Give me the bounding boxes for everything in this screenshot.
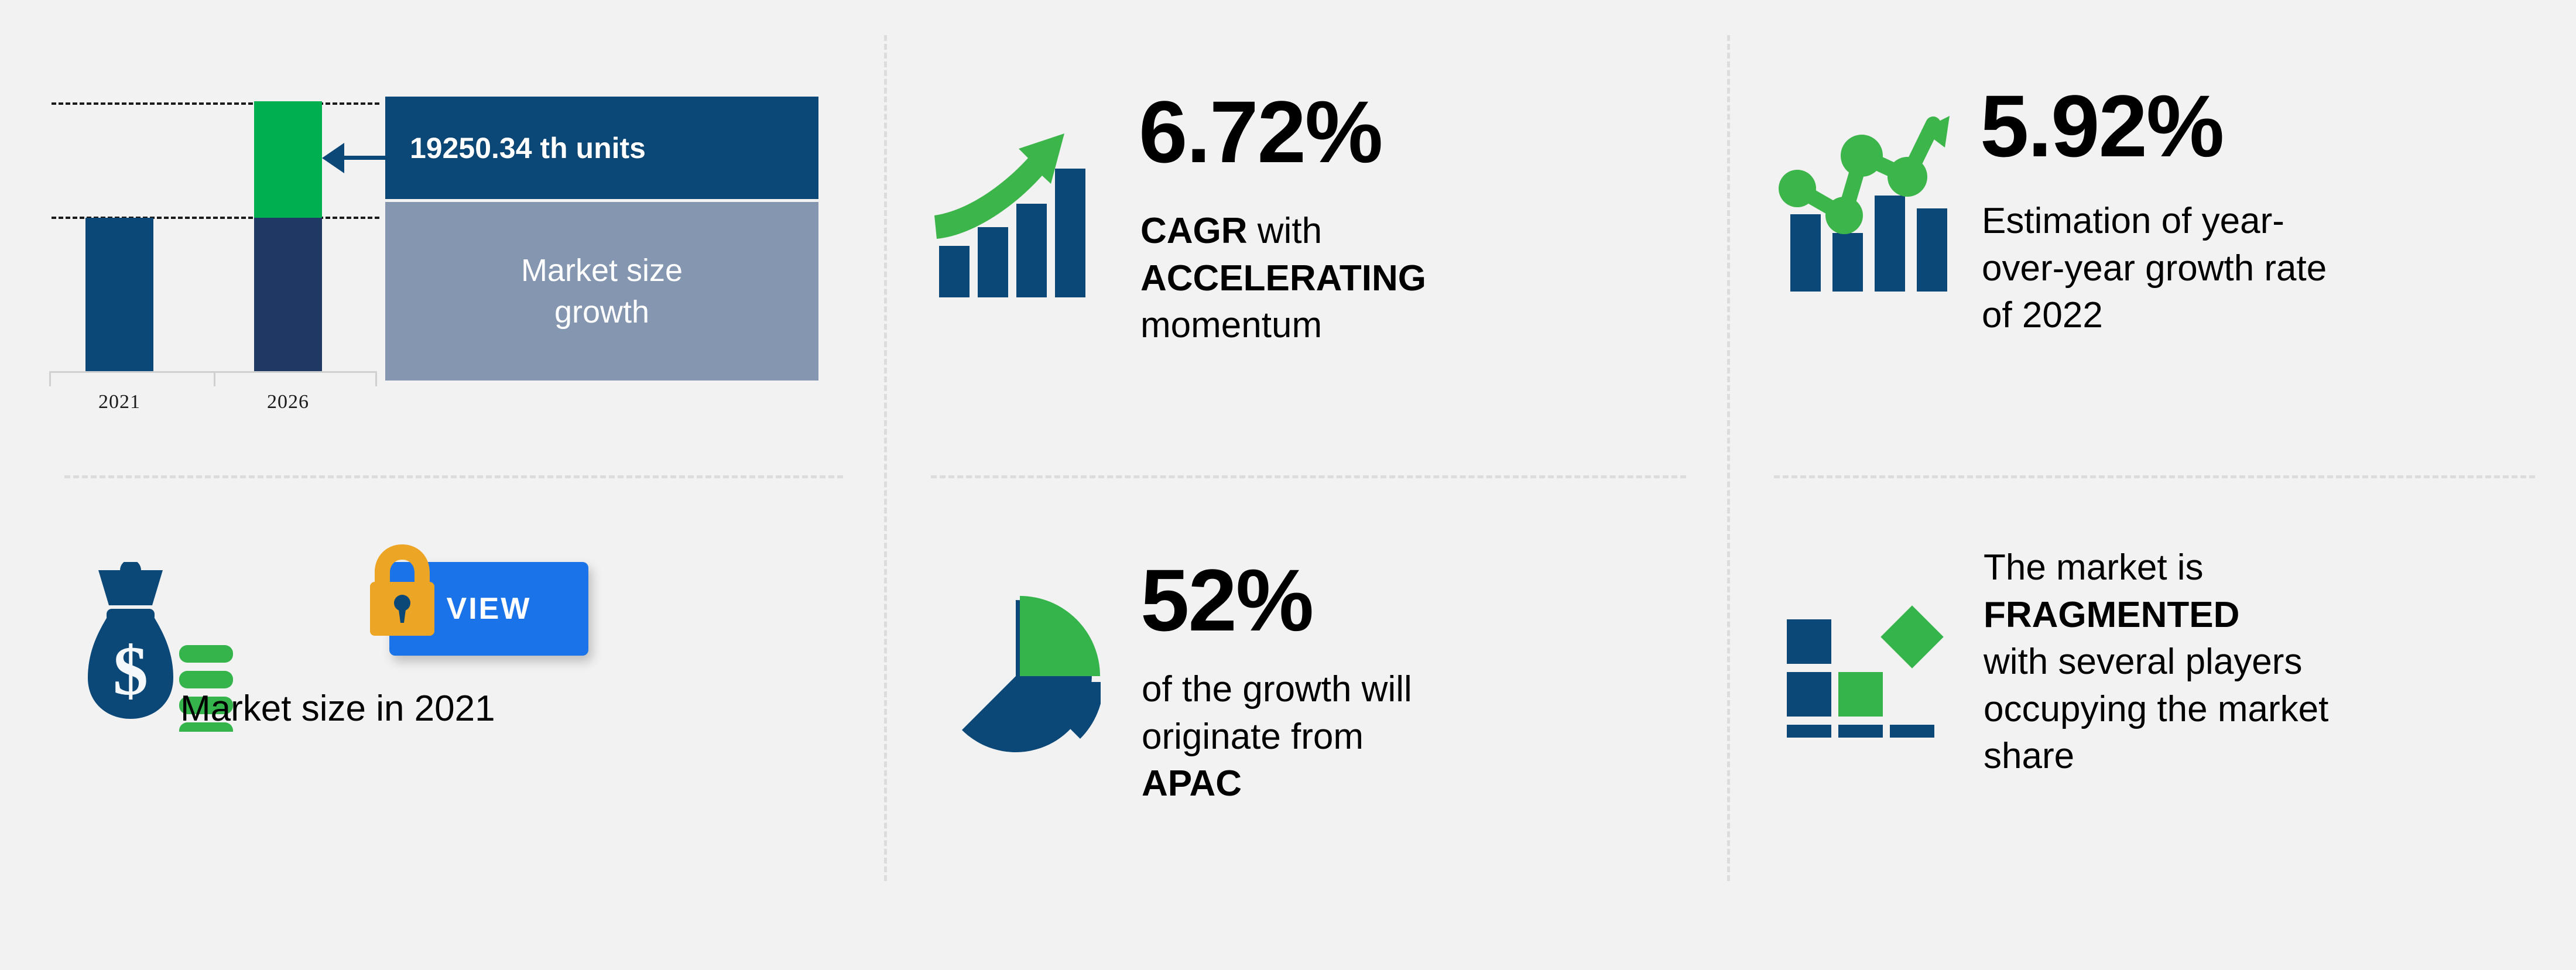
- axis-tick-mid: [214, 371, 215, 386]
- gridline-top: [52, 102, 379, 105]
- yoy-value: 5.92%: [1980, 82, 2223, 170]
- line-chart-arrow-icon: [1774, 100, 1961, 293]
- apac-value: 52%: [1140, 556, 1313, 644]
- svg-text:$: $: [113, 632, 148, 709]
- market-size-2021-cell: $ VIEW Market size in 2021: [64, 544, 843, 896]
- fragmentation-description: The market is FRAGMENTED with several pl…: [1984, 544, 2557, 780]
- cagr-strong-label: CAGR: [1140, 211, 1248, 251]
- fragmented-squares-icon: [1787, 591, 1962, 738]
- fragmentation-cell: The market is FRAGMENTED with several pl…: [1774, 527, 2553, 890]
- view-button-label: VIEW: [447, 591, 532, 626]
- horizontal-divider-col1: [64, 475, 843, 478]
- vertical-divider-right: [1727, 35, 1730, 881]
- lock-icon: [364, 537, 440, 637]
- fragmentation-line4: occupying the market: [1984, 686, 2557, 734]
- pie-chart-icon: [931, 591, 1101, 761]
- axis-label-2026: 2026: [253, 391, 323, 413]
- fragmentation-line3: with several players: [1984, 639, 2557, 686]
- fragmentation-strong-label: FRAGMENTED: [1984, 595, 2239, 635]
- apac-line1: of the growth will: [1142, 666, 1680, 714]
- cagr-value: 6.72%: [1139, 88, 1382, 176]
- yoy-line3: of 2022: [1982, 292, 2538, 340]
- apac-description: of the growth will originate from APAC: [1142, 666, 1680, 808]
- cagr-accelerating-label: ACCELERATING: [1140, 258, 1426, 299]
- apac-region-label: APAC: [1142, 763, 1242, 804]
- infographic-canvas: 2021 2026 19250.34 th units Market size …: [0, 0, 2576, 970]
- fragmentation-line5: share: [1984, 733, 2557, 780]
- market-size-2021-caption: Market size in 2021: [180, 688, 495, 729]
- bar-2021: [85, 218, 153, 371]
- apac-line2: originate from: [1142, 714, 1680, 761]
- callout-arrow-head: [322, 143, 344, 173]
- apac-cell: 52% of the growth will originate from AP…: [931, 550, 1692, 902]
- fragmentation-line1: The market is: [1984, 544, 2557, 592]
- callout-label-box: Market size growth: [385, 202, 818, 381]
- yoy-line2: over-year growth rate: [1982, 245, 2538, 293]
- horizontal-divider-col2: [931, 475, 1686, 478]
- x-axis-line: [49, 371, 377, 373]
- horizontal-divider-col3: [1774, 475, 2535, 478]
- market-size-growth-chart: 2021 2026 19250.34 th units Market size …: [35, 82, 843, 433]
- bar-2026-base: [254, 218, 322, 371]
- yoy-cell: 5.92% Estimation of year- over-year grow…: [1774, 88, 2547, 439]
- vertical-divider-left: [884, 35, 887, 881]
- cagr-line1-rest: with: [1248, 211, 1322, 251]
- cagr-cell: 6.72% CAGR with ACCELERATING momentum: [931, 88, 1692, 439]
- axis-label-2021: 2021: [84, 391, 155, 413]
- callout-label-line2: growth: [521, 292, 683, 333]
- axis-tick-end: [375, 371, 377, 386]
- bar-2026-growth: [254, 101, 322, 218]
- bar-chart-growth-arrow-icon: [931, 105, 1107, 299]
- yoy-line1: Estimation of year-: [1982, 198, 2538, 245]
- cagr-momentum-label: momentum: [1140, 302, 1667, 349]
- yoy-description: Estimation of year- over-year growth rat…: [1982, 198, 2538, 340]
- callout-value-text: 19250.34 th units: [410, 131, 646, 165]
- cagr-description: CAGR with ACCELERATING momentum: [1140, 208, 1667, 349]
- callout-value-box: 19250.34 th units: [385, 97, 818, 199]
- callout-label-line1: Market size: [521, 250, 683, 291]
- axis-tick-start: [49, 371, 51, 386]
